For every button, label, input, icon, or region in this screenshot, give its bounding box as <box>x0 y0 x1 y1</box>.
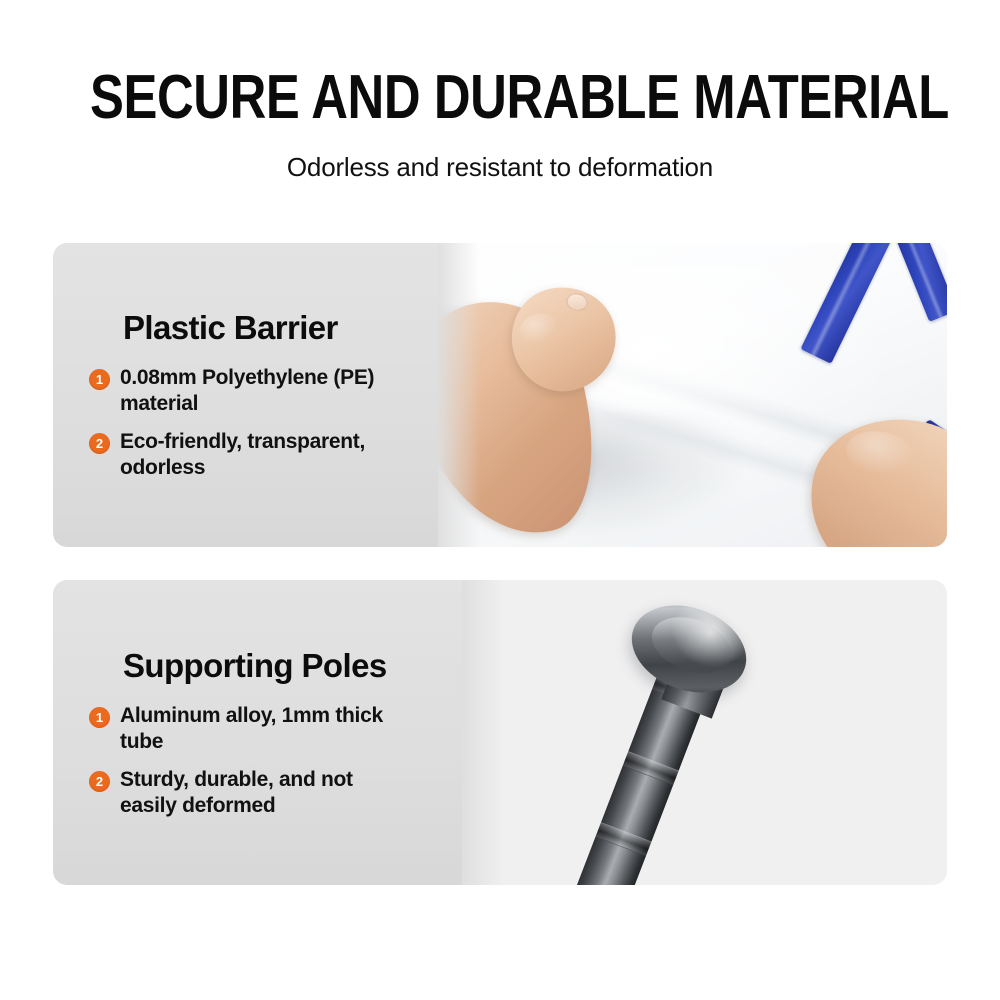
bullet-text: 0.08mm Polyethylene (PE) material <box>120 365 410 417</box>
list-item: 2 Sturdy, durable, and not easily deform… <box>89 767 440 819</box>
page-header: SECURE AND DURABLE MATERIAL Odorless and… <box>0 0 1000 183</box>
number-badge-icon: 2 <box>89 771 110 792</box>
bullet-text: Aluminum alloy, 1mm thick tube <box>120 703 410 755</box>
list-item: 2 Eco-friendly, transparent, odorless <box>89 429 416 481</box>
number-badge-icon: 1 <box>89 707 110 728</box>
feature-photo-supporting-pole <box>462 580 947 885</box>
feature-photo-plastic-film <box>438 243 947 547</box>
feature-title: Plastic Barrier <box>89 309 416 347</box>
feature-title: Supporting Poles <box>89 647 440 685</box>
bullet-text: Eco-friendly, transparent, odorless <box>120 429 410 481</box>
feature-card-plastic-barrier: Plastic Barrier 1 0.08mm Polyethylene (P… <box>53 243 947 547</box>
bullet-text: Sturdy, durable, and not easily deformed <box>120 767 410 819</box>
feature-text-panel: Plastic Barrier 1 0.08mm Polyethylene (P… <box>53 243 438 547</box>
plastic-film-illustration <box>438 243 947 547</box>
list-item: 1 0.08mm Polyethylene (PE) material <box>89 365 416 417</box>
list-item: 1 Aluminum alloy, 1mm thick tube <box>89 703 440 755</box>
number-badge-icon: 1 <box>89 369 110 390</box>
knuckle-highlight <box>517 310 562 348</box>
aluminum-pole-illustration <box>462 580 947 885</box>
page-subtitle: Odorless and resistant to deformation <box>0 134 1000 183</box>
knuckle-highlight <box>842 425 920 483</box>
feature-card-supporting-poles: Supporting Poles 1 Aluminum alloy, 1mm t… <box>53 580 947 885</box>
pole-segment-joint <box>623 751 679 785</box>
number-badge-icon: 2 <box>89 433 110 454</box>
feature-bullet-list: 1 Aluminum alloy, 1mm thick tube 2 Sturd… <box>89 703 440 819</box>
page-title: SECURE AND DURABLE MATERIAL <box>90 0 910 134</box>
feature-text-panel: Supporting Poles 1 Aluminum alloy, 1mm t… <box>53 580 462 885</box>
pole-cap-icon <box>620 590 759 707</box>
pole-segment-joint <box>595 822 651 856</box>
fingernail-shape <box>565 291 589 312</box>
pole-cap-inner-shading <box>644 608 739 684</box>
feature-bullet-list: 1 0.08mm Polyethylene (PE) material 2 Ec… <box>89 365 416 481</box>
